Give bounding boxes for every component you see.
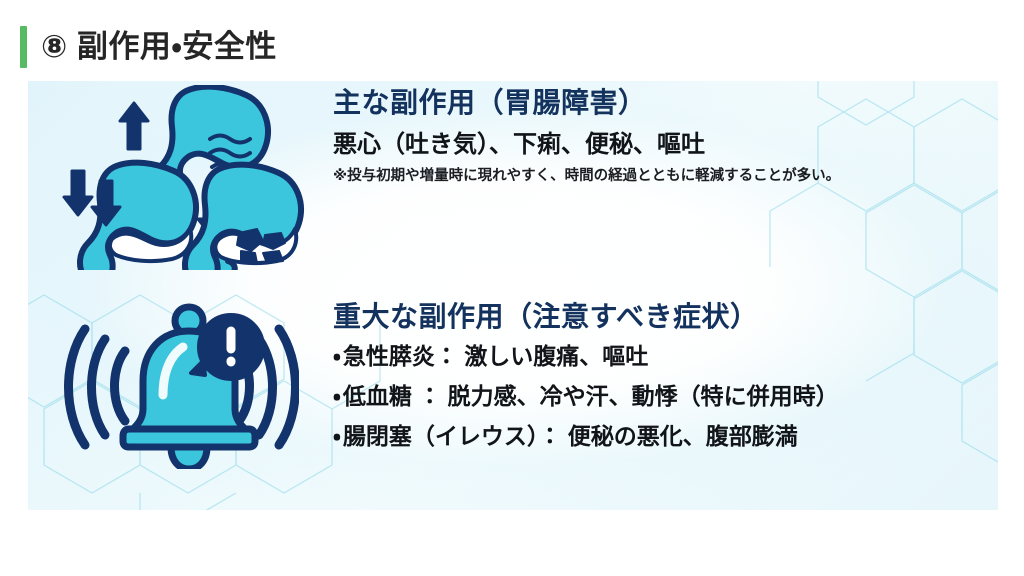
- serious-heading: 重大な副作用（注意すべき症状）: [333, 301, 839, 333]
- content-panel: 主な副作用（胃腸障害） 悪心（吐き気）、下痢、便秘、嘔吐 ※投与初期や増量時に現…: [28, 81, 998, 510]
- list-item-label: 腸閉塞（イレウス）： 便秘の悪化、腹部膨満: [343, 423, 798, 449]
- arrow-up-icon: [120, 103, 148, 149]
- bullet-marker: ・: [333, 423, 341, 449]
- gi-symptoms: 悪心（吐き気）、下痢、便秘、嘔吐: [333, 131, 840, 160]
- section-serious-adverse-effects: 重大な副作用（注意すべき症状） ・急性膵炎： 激しい腹痛、嘔吐 ・低血糖 ： 脱…: [28, 299, 839, 469]
- serious-bullet-list: ・急性膵炎： 激しい腹痛、嘔吐 ・低血糖 ： 脱力感、冷や汗、動悸（特に併用時）…: [333, 345, 839, 448]
- list-item: ・低血糖 ： 脱力感、冷や汗、動悸（特に併用時）: [333, 385, 839, 408]
- gi-note: ※投与初期や増量時に現れやすく、時間の経過とともに軽減することが多い。: [333, 167, 840, 186]
- title-accent-bar: [20, 26, 27, 68]
- gi-text-column: 主な副作用（胃腸障害） 悪心（吐き気）、下痢、便秘、嘔吐 ※投与初期や増量時に現…: [333, 85, 840, 186]
- list-item-label: 低血糖 ： 脱力感、冷や汗、動悸（特に併用時）: [343, 383, 839, 409]
- slide-title-row: ⑧ 副作用・安全性: [20, 26, 277, 68]
- bullet-marker: ・: [333, 343, 341, 369]
- page-title: ⑧ 副作用・安全性: [41, 26, 277, 68]
- alert-bell-icon: [63, 299, 299, 469]
- alert-icon-column: [28, 299, 333, 469]
- list-item-label: 急性膵炎： 激しい腹痛、嘔吐: [343, 343, 648, 369]
- stomach-gi-icon: [56, 85, 306, 270]
- bullet-marker: ・: [333, 383, 341, 409]
- gi-icon-column: [28, 85, 333, 270]
- section-gi-adverse-effects: 主な副作用（胃腸障害） 悪心（吐き気）、下痢、便秘、嘔吐 ※投与初期や増量時に現…: [28, 85, 840, 270]
- serious-text-column: 重大な副作用（注意すべき症状） ・急性膵炎： 激しい腹痛、嘔吐 ・低血糖 ： 脱…: [333, 299, 839, 448]
- list-item: ・腸閉塞（イレウス）： 便秘の悪化、腹部膨満: [333, 425, 839, 448]
- gi-heading: 主な副作用（胃腸障害）: [333, 87, 840, 119]
- sound-wave-left-icon: [68, 329, 125, 445]
- list-item: ・急性膵炎： 激しい腹痛、嘔吐: [333, 345, 839, 368]
- bell-clapper: [171, 447, 207, 469]
